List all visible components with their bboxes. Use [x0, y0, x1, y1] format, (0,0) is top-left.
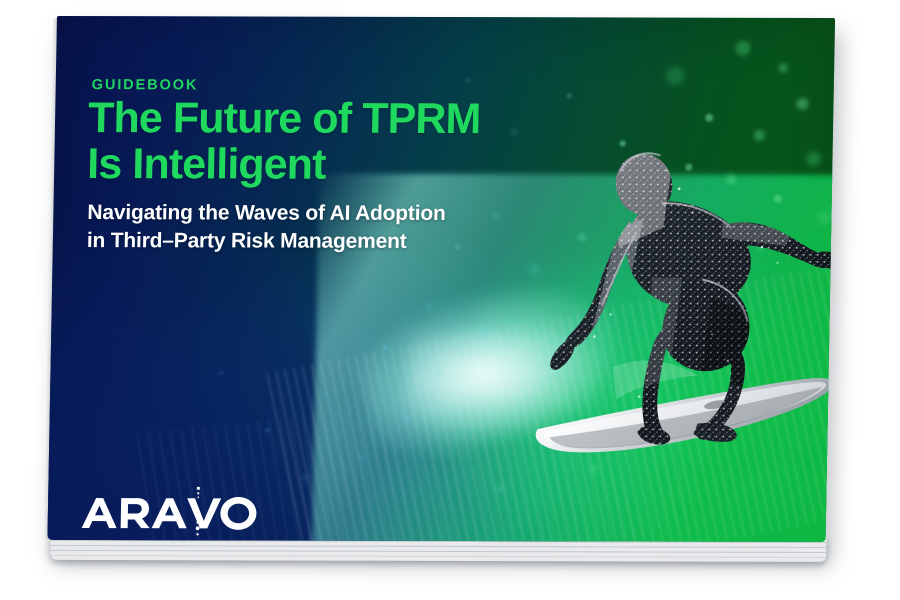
- cover-eyebrow-label: GUIDEBOOK: [92, 77, 199, 93]
- bokeh-particle: [220, 371, 224, 375]
- bokeh-particle: [735, 41, 750, 56]
- bokeh-particle: [753, 130, 764, 141]
- bokeh-particle: [358, 454, 363, 459]
- bokeh-particle: [665, 66, 683, 84]
- cover-title-line-1: The Future of TPRM: [88, 95, 559, 142]
- bokeh-particle: [646, 188, 651, 193]
- bokeh-particle: [530, 264, 540, 274]
- bokeh-particle: [705, 113, 713, 121]
- cover-title: The Future of TPRM Is Intelligent: [87, 95, 559, 188]
- bokeh-particle: [773, 195, 781, 203]
- bokeh-particle: [578, 234, 586, 242]
- bokeh-particle: [403, 414, 412, 422]
- bokeh-particle: [620, 140, 626, 146]
- bokeh-particle: [779, 63, 789, 73]
- bokeh-particle: [589, 464, 597, 472]
- bokeh-particle: [302, 475, 309, 481]
- bokeh-particle: [466, 78, 470, 82]
- bokeh-particle: [345, 271, 350, 276]
- bokeh-particle: [436, 370, 442, 376]
- bokeh-particle: [265, 428, 269, 432]
- bokeh-particle: [715, 224, 722, 230]
- bokeh-particle: [497, 486, 503, 492]
- bokeh-particle: [796, 98, 808, 110]
- book-cover-mockup: GUIDEBOOK The Future of TPRM Is Intellig…: [47, 16, 839, 563]
- cover-subtitle-line-1: Navigating the Waves of AI Adoption: [87, 199, 518, 228]
- bokeh-particle: [726, 175, 736, 185]
- aravo-logo: [79, 484, 260, 538]
- bokeh-particle: [629, 258, 635, 264]
- bokeh-particle: [806, 152, 820, 166]
- aravo-wordmark-letters: [82, 497, 257, 530]
- cover-title-line-2: Is Intelligent: [87, 141, 558, 188]
- bokeh-particle: [426, 302, 433, 309]
- cover-subtitle: Navigating the Waves of AI Adoption in T…: [87, 199, 518, 256]
- cover-subtitle-line-2: in Third–Party Risk Management: [87, 227, 518, 256]
- bokeh-particle: [817, 211, 830, 224]
- bokeh-particle: [756, 241, 765, 250]
- bokeh-particle: [567, 94, 572, 99]
- bokeh-particle: [383, 345, 388, 350]
- bokeh-particle: [324, 392, 328, 396]
- bokeh-particle: [537, 430, 549, 442]
- front-cover: GUIDEBOOK The Future of TPRM Is Intellig…: [47, 16, 835, 542]
- bokeh-particle: [477, 326, 488, 337]
- screenshot-canvas: GUIDEBOOK The Future of TPRM Is Intellig…: [0, 0, 900, 600]
- bokeh-particle: [685, 163, 692, 170]
